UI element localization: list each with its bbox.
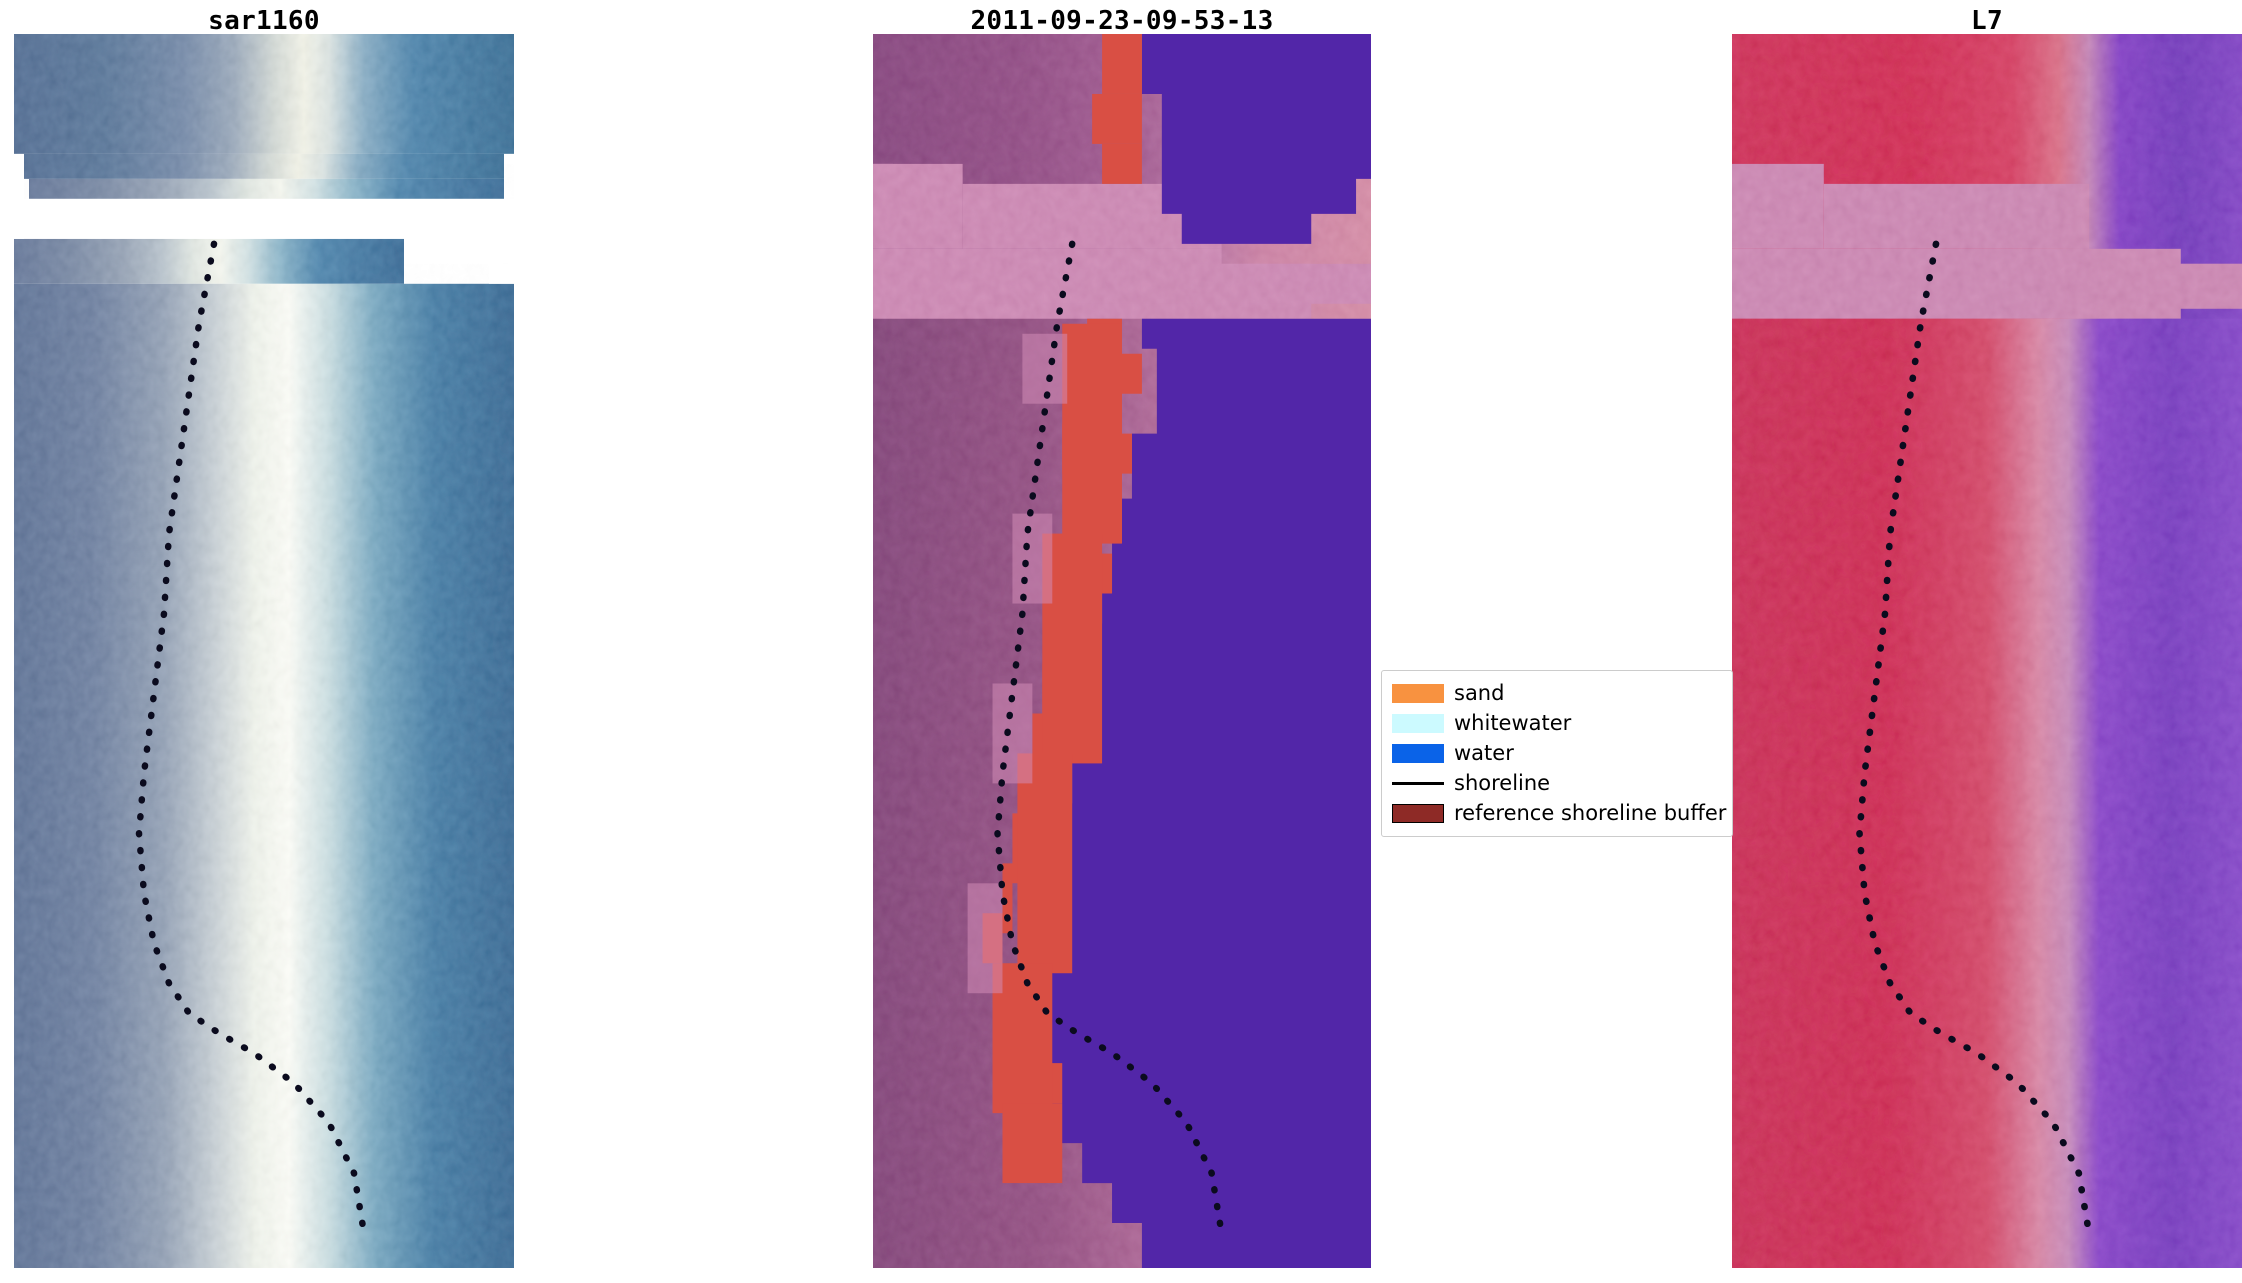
classified-raster <box>873 34 1371 1268</box>
sand-swatch-wrap <box>1392 684 1454 703</box>
panel-title-sar: sar1160 <box>14 6 514 36</box>
water-swatch-wrap <box>1392 744 1454 763</box>
legend-label-water: water <box>1454 743 1514 764</box>
panel-l7-image[interactable] <box>1732 34 2242 1268</box>
panel-sar1160-image[interactable] <box>14 34 514 1268</box>
whitewater-swatch-wrap <box>1392 714 1454 733</box>
legend-item-reference-buffer: reference shoreline buffer <box>1392 798 1722 828</box>
legend-item-sand: sand <box>1392 678 1722 708</box>
legend-label-whitewater: whitewater <box>1454 713 1571 734</box>
reference-buffer-color-swatch <box>1392 804 1444 823</box>
figure-canvas: sar1160 2011-09-23-09-53-13 L7 <box>0 0 2242 1283</box>
legend-item-water: water <box>1392 738 1722 768</box>
shoreline-swatch-wrap <box>1392 782 1454 785</box>
sand-color-swatch <box>1392 684 1444 703</box>
legend-label-sand: sand <box>1454 683 1504 704</box>
l7-raster <box>1732 34 2242 1268</box>
legend-label-reference-buffer: reference shoreline buffer <box>1454 803 1726 824</box>
water-color-swatch <box>1392 744 1444 763</box>
legend-box[interactable]: sand whitewater water shoreline referenc <box>1381 670 1733 837</box>
panel-classified-image[interactable] <box>873 34 1371 1268</box>
panel-title-l7: L7 <box>1732 6 2242 36</box>
shoreline-overlay-panel1 <box>14 34 514 1268</box>
reference-buffer-swatch-wrap <box>1392 804 1454 823</box>
legend-item-whitewater: whitewater <box>1392 708 1722 738</box>
shoreline-line-swatch <box>1392 782 1444 785</box>
whitewater-color-swatch <box>1392 714 1444 733</box>
panel-title-timestamp: 2011-09-23-09-53-13 <box>873 6 1371 36</box>
legend-item-shoreline: shoreline <box>1392 768 1722 798</box>
legend-label-shoreline: shoreline <box>1454 773 1550 794</box>
